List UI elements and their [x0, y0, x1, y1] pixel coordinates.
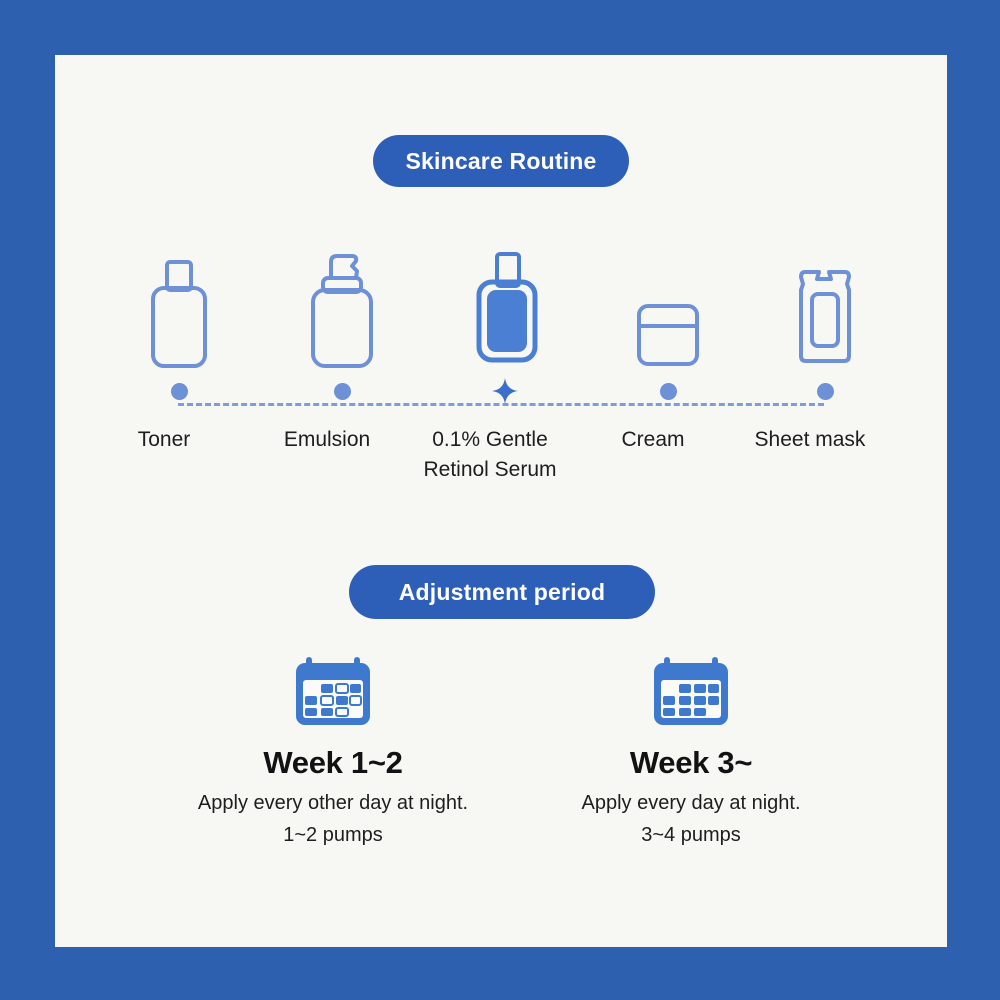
toner-bottle-icon	[99, 240, 259, 370]
routine-label-serum-line1: 0.1% Gentle	[395, 425, 585, 455]
sheet-mask-icon	[745, 240, 905, 370]
period-desc-line1: Apply every other day at night.	[163, 787, 503, 819]
routine-step-emulsion	[262, 240, 422, 370]
routine-badge: Skincare Routine	[373, 135, 629, 187]
sparkle-star-icon	[492, 378, 518, 404]
calendar-alternate-days-icon	[163, 645, 503, 735]
period-desc-week-3: Apply every day at night. 3~4 pumps	[521, 787, 861, 851]
routine-step-serum	[425, 240, 585, 370]
routine-step-sheet-mask	[745, 240, 905, 370]
period-title-week-1-2: Week 1~2	[163, 745, 503, 781]
period-desc-line1: Apply every day at night.	[521, 787, 861, 819]
period-week-3: Week 3~ Apply every day at night. 3~4 pu…	[521, 645, 861, 851]
calendar-every-day-icon	[521, 645, 861, 735]
step-dot-icon	[171, 383, 188, 400]
routine-label-serum-line2: Retinol Serum	[395, 455, 585, 485]
period-desc-line2: 1~2 pumps	[163, 819, 503, 851]
routine-section: Toner Emulsion	[55, 240, 947, 540]
cream-jar-icon	[588, 240, 748, 370]
period-desc-line2: 3~4 pumps	[521, 819, 861, 851]
routine-marker-emulsion	[262, 383, 422, 400]
adjustment-badge: Adjustment period	[349, 565, 655, 619]
routine-marker-sheet-mask	[745, 383, 905, 400]
period-title-week-3: Week 3~	[521, 745, 861, 781]
outer-frame: Skincare Routine Toner	[0, 0, 1000, 1000]
period-desc-week-1-2: Apply every other day at night. 1~2 pump…	[163, 787, 503, 851]
routine-step-toner	[99, 240, 259, 370]
routine-step-cream	[588, 240, 748, 370]
routine-label-toner: Toner	[69, 425, 259, 455]
routine-label-sheet-mask: Sheet mask	[715, 425, 905, 455]
period-week-1-2: Week 1~2 Apply every other day at night.…	[163, 645, 503, 851]
routine-label-serum: 0.1% Gentle Retinol Serum	[395, 425, 585, 485]
routine-marker-cream	[588, 383, 748, 400]
routine-marker-toner	[99, 383, 259, 400]
serum-bottle-icon	[425, 240, 585, 370]
pump-bottle-icon	[262, 240, 422, 370]
routine-label-emulsion: Emulsion	[232, 425, 422, 455]
content-card: Skincare Routine Toner	[55, 55, 947, 947]
step-dot-icon	[334, 383, 351, 400]
routine-marker-serum	[425, 383, 585, 404]
step-dot-icon	[817, 383, 834, 400]
step-dot-icon	[660, 383, 677, 400]
